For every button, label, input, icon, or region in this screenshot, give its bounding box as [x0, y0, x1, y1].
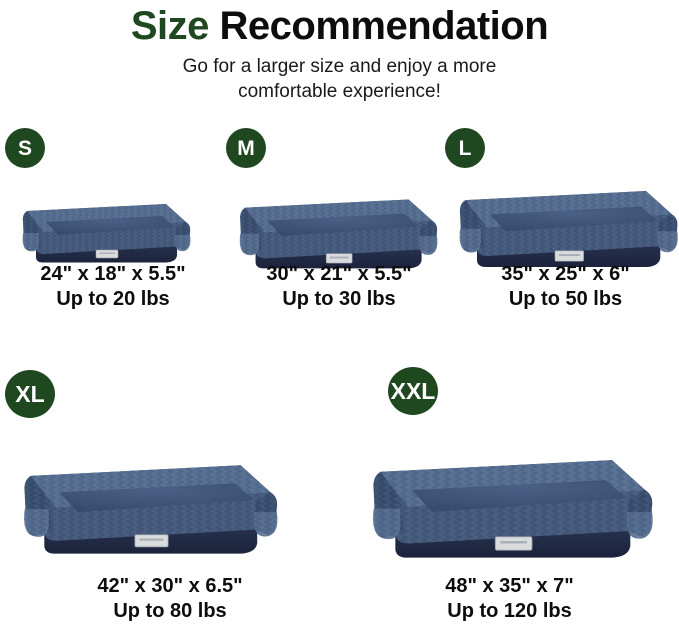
size-badge-xxl-label: XXL — [391, 380, 436, 403]
size-weight-xl: Up to 80 lbs — [0, 599, 340, 624]
size-badge-m-label: M — [237, 138, 255, 159]
size-card-m[interactable]: M — [226, 122, 452, 322]
size-badge-s-label: S — [18, 138, 32, 159]
size-caption-xxl: 48" x 35" x 7" Up to 120 lbs — [340, 574, 679, 624]
dog-bed-svg-xxl — [362, 410, 662, 577]
size-badge-xl-label: XL — [15, 383, 44, 406]
size-caption-s: 24" x 18" x 5.5" Up to 20 lbs — [0, 262, 226, 312]
page-title-rest: Recommendation — [220, 4, 549, 48]
size-weight-xxl: Up to 120 lbs — [340, 599, 679, 624]
page-subtitle-line-2: comfortable experience! — [105, 79, 575, 104]
page-subtitle-line-1: Go for a larger size and enjoy a more — [105, 54, 575, 79]
size-row-top: S — [0, 122, 679, 322]
size-recommendation-infographic: Size Recommendation Go for a larger size… — [0, 0, 679, 615]
size-row-bottom: XL — [0, 362, 679, 615]
page-subtitle: Go for a larger size and enjoy a more co… — [105, 54, 575, 104]
size-caption-m: 30" x 21" x 5.5" Up to 30 lbs — [226, 262, 452, 312]
size-badge-xxl: XXL — [388, 367, 438, 415]
size-dimensions-l: 35" x 25" x 6" — [452, 262, 679, 287]
size-badge-s: S — [5, 128, 45, 168]
size-weight-m: Up to 30 lbs — [226, 287, 452, 312]
size-dimensions-xl: 42" x 30" x 6.5" — [0, 574, 340, 599]
size-dimensions-m: 30" x 21" x 5.5" — [226, 262, 452, 287]
size-badge-l: L — [445, 128, 485, 168]
bed-illustration-xl — [14, 420, 286, 571]
size-badge-xl: XL — [5, 370, 55, 418]
size-card-xxl[interactable]: XXL — [340, 362, 679, 615]
size-badge-l-label: L — [459, 138, 472, 159]
bed-illustration-xxl — [362, 410, 662, 577]
bed-illustration-s — [16, 174, 196, 274]
page-title: Size Recommendation — [0, 2, 679, 50]
size-badge-m: M — [226, 128, 266, 168]
dog-bed-svg-xl — [14, 420, 286, 571]
size-weight-s: Up to 20 lbs — [0, 287, 226, 312]
size-dimensions-xxl: 48" x 35" x 7" — [340, 574, 679, 599]
dog-bed-svg-s — [16, 174, 196, 274]
size-caption-xl: 42" x 30" x 6.5" Up to 80 lbs — [0, 574, 340, 624]
header: Size Recommendation Go for a larger size… — [0, 0, 679, 104]
size-weight-l: Up to 50 lbs — [452, 287, 679, 312]
size-dimensions-s: 24" x 18" x 5.5" — [0, 262, 226, 287]
size-caption-l: 35" x 25" x 6" Up to 50 lbs — [452, 262, 679, 312]
size-card-l[interactable]: L — [452, 122, 679, 322]
size-card-s[interactable]: S — [0, 122, 226, 322]
page-title-highlight: Size — [131, 4, 209, 48]
size-card-xl[interactable]: XL — [0, 362, 340, 615]
